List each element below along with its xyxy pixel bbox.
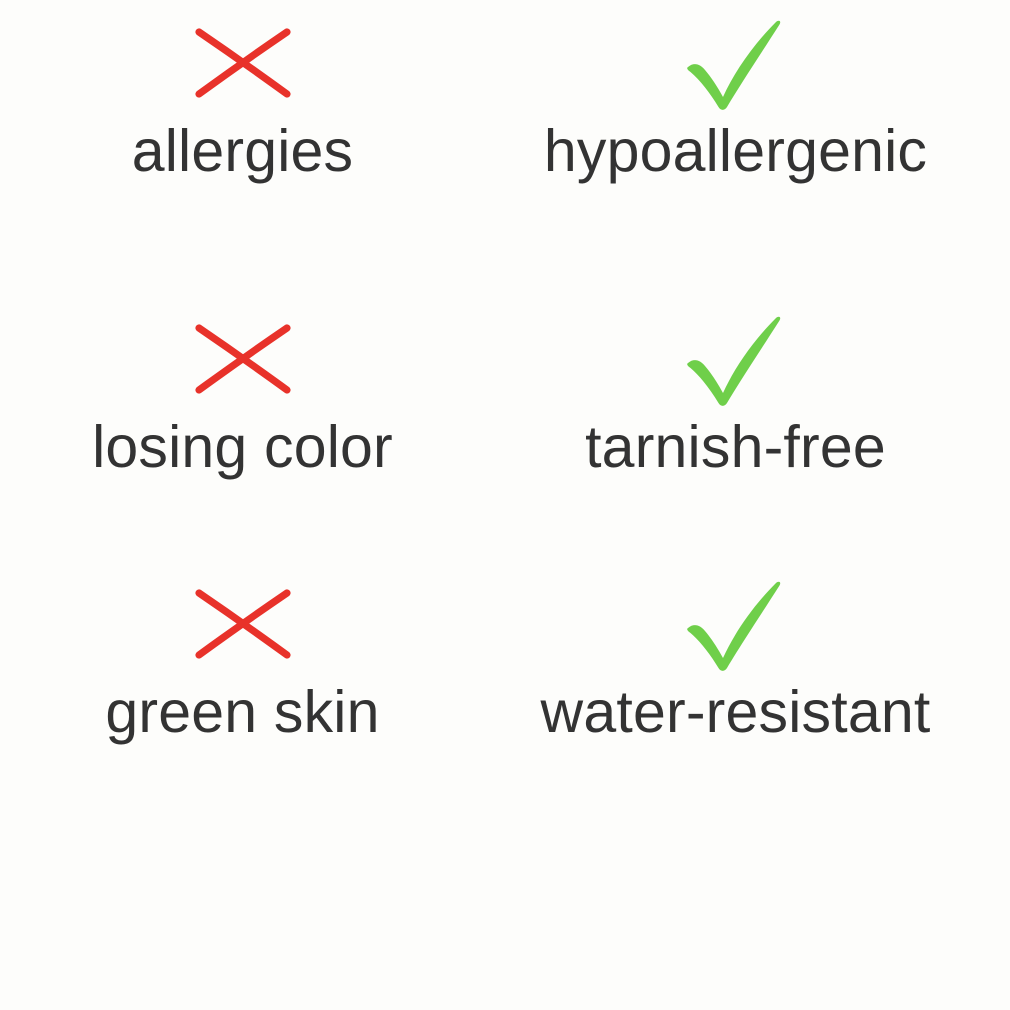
- comparison-label-pro-2: tarnish-free: [585, 416, 886, 479]
- comparison-item-pro-3: water-resistant: [493, 575, 1010, 744]
- cross-icon: [183, 575, 303, 675]
- comparison-label-con-3: green skin: [105, 681, 379, 744]
- comparison-label-pro-1: hypoallergenic: [544, 120, 927, 183]
- comparison-item-con-1: allergies: [0, 0, 493, 183]
- cross-icon: [183, 14, 303, 114]
- comparison-item-con-2: losing color: [0, 310, 493, 479]
- check-icon: [676, 575, 796, 675]
- comparison-board: allergies hypoallergenic: [0, 0, 1010, 1010]
- comparison-grid: allergies hypoallergenic: [0, 0, 1010, 1010]
- comparison-label-con-1: allergies: [132, 120, 354, 183]
- comparison-item-pro-2: tarnish-free: [493, 310, 1010, 479]
- check-icon: [676, 310, 796, 410]
- comparison-label-pro-3: water-resistant: [541, 681, 931, 744]
- comparison-item-con-3: green skin: [0, 575, 493, 744]
- comparison-label-con-2: losing color: [92, 416, 393, 479]
- check-icon: [676, 14, 796, 114]
- cross-icon: [183, 310, 303, 410]
- comparison-item-pro-1: hypoallergenic: [493, 0, 1010, 183]
